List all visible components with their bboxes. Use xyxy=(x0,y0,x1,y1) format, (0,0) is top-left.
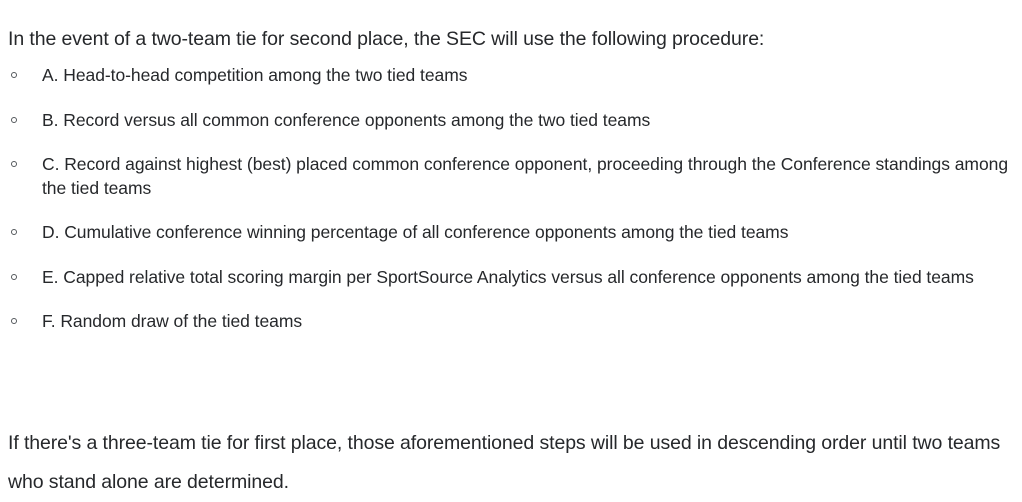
list-item-label: A. Head-to-head competition among the tw… xyxy=(42,64,1012,88)
list-item-label: B. Record versus all common conference o… xyxy=(42,109,1012,133)
list-item: E. Capped relative total scoring margin … xyxy=(0,266,1022,290)
circle-bullet-icon xyxy=(11,274,17,280)
list-item-label: D. Cumulative conference winning percent… xyxy=(42,221,1012,245)
tiebreaker-procedure-list: A. Head-to-head competition among the tw… xyxy=(0,64,1022,334)
document-body: In the event of a two-team tie for secon… xyxy=(0,0,1022,498)
list-item: A. Head-to-head competition among the tw… xyxy=(0,64,1022,88)
circle-bullet-icon xyxy=(11,72,17,78)
list-item-label: E. Capped relative total scoring margin … xyxy=(42,266,1012,290)
list-item-label: F. Random draw of the tied teams xyxy=(42,310,1012,334)
circle-bullet-icon xyxy=(11,161,17,167)
list-item-label: C. Record against highest (best) placed … xyxy=(42,153,1012,200)
circle-bullet-icon xyxy=(11,318,17,324)
circle-bullet-icon xyxy=(11,229,17,235)
list-item: F. Random draw of the tied teams xyxy=(0,310,1022,334)
circle-bullet-icon xyxy=(11,117,17,123)
list-item: B. Record versus all common conference o… xyxy=(0,109,1022,133)
intro-paragraph: In the event of a two-team tie for secon… xyxy=(8,26,1014,52)
list-item: C. Record against highest (best) placed … xyxy=(0,153,1022,200)
list-item: D. Cumulative conference winning percent… xyxy=(0,221,1022,245)
closing-paragraph: If there's a three-team tie for first pl… xyxy=(8,424,1008,502)
